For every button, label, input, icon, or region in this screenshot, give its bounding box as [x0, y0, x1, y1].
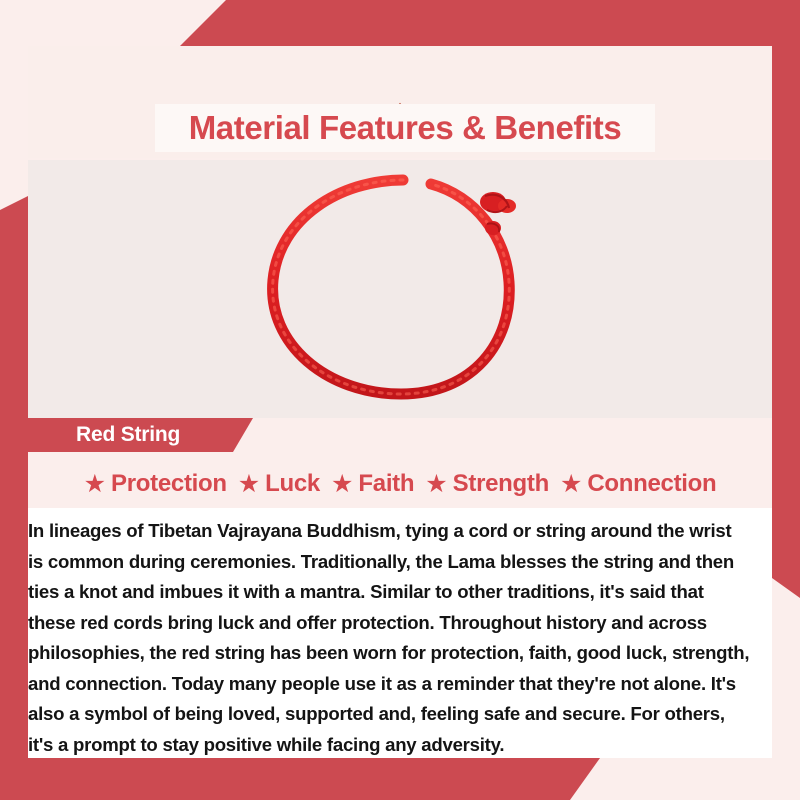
star-icon: ★: [238, 472, 260, 497]
feature-item: ★ Faith: [331, 470, 414, 498]
description-paragraph: In lineages of Tibetan Vajrayana Buddhis…: [28, 516, 750, 760]
feature-label: Connection: [587, 470, 716, 498]
star-icon: ★: [425, 472, 447, 497]
page-title-box: Material Features & Benefits: [155, 104, 655, 152]
feature-label: Strength: [453, 470, 549, 498]
product-photo: [28, 160, 772, 418]
left-red-stripe: [0, 196, 28, 800]
star-icon: ★: [84, 472, 106, 497]
product-name-label: Red String: [28, 423, 180, 447]
feature-label: Faith: [358, 470, 414, 498]
product-name-banner: Red String: [28, 418, 253, 452]
red-string-bracelet-image: [235, 166, 565, 416]
feature-item: ★ Strength: [425, 470, 549, 498]
feature-item: ★ Protection: [84, 470, 227, 498]
feature-label: Luck: [265, 470, 320, 498]
star-icon: ★: [331, 472, 353, 497]
infographic-page: BUDDHA STONES Material Features & Benefi…: [0, 0, 800, 800]
feature-item: ★ Luck: [238, 470, 320, 498]
feature-item: ★ Connection: [560, 470, 716, 498]
description-block: In lineages of Tibetan Vajrayana Buddhis…: [28, 508, 772, 758]
top-red-band: [0, 0, 800, 46]
right-red-stripe: [772, 0, 800, 598]
bottom-red-band: [0, 758, 800, 800]
feature-list: ★ Protection ★ Luck ★ Faith ★ Strength ★…: [28, 462, 772, 506]
feature-label: Protection: [111, 470, 227, 498]
page-title: Material Features & Benefits: [189, 109, 622, 147]
star-icon: ★: [560, 472, 582, 497]
